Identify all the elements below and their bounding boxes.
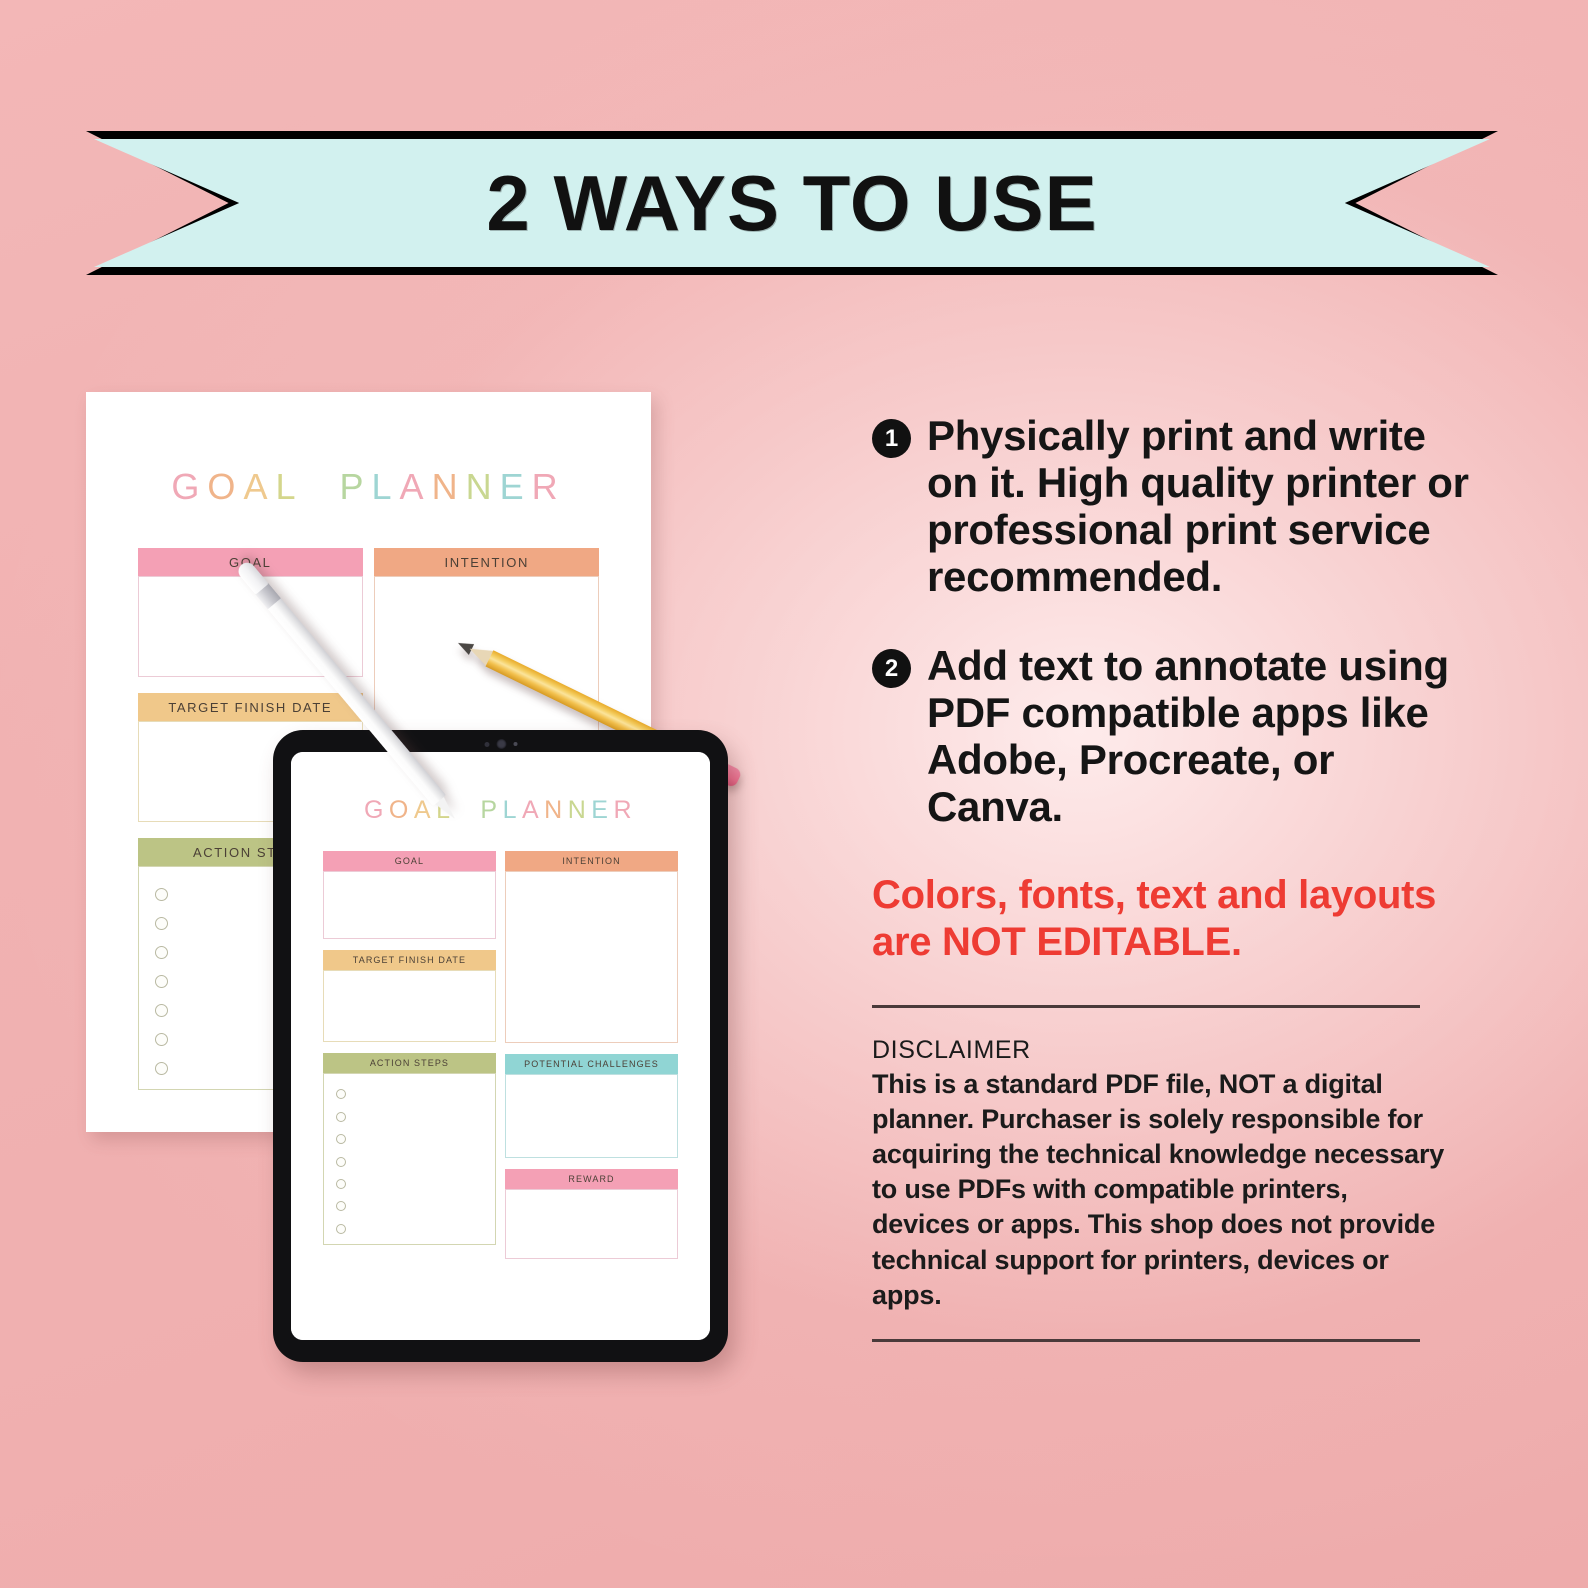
field-header-goal: GOAL	[323, 851, 496, 871]
tablet-camera-cluster	[484, 739, 517, 749]
instruction-item-1: 1 Physically print and write on it. High…	[872, 412, 1472, 600]
field-body-intention	[505, 871, 678, 1043]
planner-title-letter: O	[207, 466, 243, 507]
planner-title-letter: L	[503, 796, 522, 824]
instruction-text-2: Add text to annotate using PDF compatibl…	[927, 642, 1472, 830]
planner-title-letter: G	[171, 466, 207, 507]
action-step-checkbox[interactable]	[336, 1201, 346, 1211]
planner-title-letter: A	[400, 466, 432, 507]
planner-field-grid-tablet: GOAL TARGET FINISH DATE ACTION STEPS	[323, 851, 678, 1259]
field-header-target-finish-date: TARGET FINISH DATE	[323, 950, 496, 970]
field-body-potential-challenges	[505, 1074, 678, 1158]
action-step-checkbox[interactable]	[336, 1089, 346, 1099]
action-step-checkbox[interactable]	[155, 1062, 168, 1075]
field-body-goal	[323, 871, 496, 939]
page-title: 2 WAYS TO USE	[86, 131, 1498, 275]
planner-title-letter: R	[613, 796, 637, 824]
planner-title-letter: E	[591, 796, 613, 824]
planner-title-letter: A	[522, 796, 544, 824]
planner-title-letter: G	[364, 796, 389, 824]
field-header-intention: INTENTION	[374, 548, 599, 576]
planner-title-letter: N	[568, 796, 592, 824]
action-step-checkbox[interactable]	[336, 1134, 346, 1144]
planner-title-letter: N	[432, 466, 466, 507]
instructions-column: 1 Physically print and write on it. High…	[872, 412, 1472, 1342]
action-step-checkbox[interactable]	[155, 1004, 168, 1017]
tablet-planner-layout: GOAL PLANNER GOAL TARGET FINISH DATE ACT…	[291, 752, 710, 1340]
planner-title-letter: A	[243, 466, 275, 507]
action-step-checkbox[interactable]	[336, 1224, 346, 1234]
product-listing-graphic: 2 WAYS TO USE GOAL PLANNER GOAL TARGET F…	[0, 0, 1588, 1588]
planner-column-left-tablet: GOAL TARGET FINISH DATE ACTION STEPS	[323, 851, 496, 1259]
tablet-device: GOAL PLANNER GOAL TARGET FINISH DATE ACT…	[273, 730, 728, 1362]
disclaimer-title: DISCLAIMER	[872, 1036, 1472, 1065]
sensor-dot-icon	[484, 742, 489, 747]
action-step-checkbox[interactable]	[336, 1179, 346, 1189]
planner-title-letter: L	[372, 466, 400, 507]
planner-title-letter: P	[340, 466, 372, 507]
field-body-target-finish-date	[323, 970, 496, 1042]
tablet-screen[interactable]: GOAL PLANNER GOAL TARGET FINISH DATE ACT…	[291, 752, 710, 1340]
planner-title-letter: O	[389, 796, 414, 824]
planner-title-tablet: GOAL PLANNER	[291, 796, 710, 825]
planner-title-letter: P	[480, 796, 502, 824]
divider-top	[872, 1005, 1420, 1008]
planner-title-letter: L	[275, 466, 303, 507]
instruction-text-1: Physically print and write on it. High q…	[927, 412, 1472, 600]
disclaimer-body: This is a standard PDF file, NOT a digit…	[872, 1067, 1450, 1313]
field-header-reward: REWARD	[505, 1169, 678, 1189]
planner-column-right-tablet: INTENTION POTENTIAL CHALLENGES REWARD	[505, 851, 678, 1259]
banner-ribbon: 2 WAYS TO USE	[86, 131, 1498, 275]
action-step-checkbox[interactable]	[336, 1157, 346, 1167]
divider-bottom	[872, 1339, 1420, 1342]
action-step-checkbox[interactable]	[336, 1112, 346, 1122]
spacer	[323, 939, 496, 950]
number-badge-1: 1	[872, 419, 911, 458]
action-step-checkbox[interactable]	[155, 975, 168, 988]
spacer	[505, 1043, 678, 1054]
field-header-intention: INTENTION	[505, 851, 678, 871]
action-step-checkbox[interactable]	[155, 888, 168, 901]
field-header-potential-challenges: POTENTIAL CHALLENGES	[505, 1054, 678, 1074]
field-body-reward	[505, 1189, 678, 1259]
planner-title-letter: E	[500, 466, 532, 507]
field-body-action-steps	[323, 1073, 496, 1245]
planner-title-letter	[303, 466, 339, 507]
camera-lens-icon	[496, 739, 506, 749]
indicator-dot-icon	[513, 742, 517, 746]
planner-title-paper: GOAL PLANNER	[86, 466, 651, 508]
field-header-action-steps: ACTION STEPS	[323, 1053, 496, 1073]
action-step-bullet-list	[336, 1089, 346, 1234]
number-badge-2: 2	[872, 649, 911, 688]
field-header-target-finish-date: TARGET FINISH DATE	[138, 693, 363, 721]
product-mockup-group: GOAL PLANNER GOAL TARGET FINISH DATE ACT…	[0, 330, 800, 1460]
not-editable-warning: Colors, fonts, text and layouts are NOT …	[872, 872, 1472, 965]
action-step-checkbox[interactable]	[155, 917, 168, 930]
planner-title-letter: N	[544, 796, 568, 824]
action-step-checkbox[interactable]	[155, 1033, 168, 1046]
action-step-bullet-list	[155, 887, 168, 1076]
spacer	[505, 1158, 678, 1169]
planner-title-letter: R	[532, 466, 566, 507]
instruction-item-2: 2 Add text to annotate using PDF compati…	[872, 642, 1472, 830]
planner-title-letter: N	[466, 466, 500, 507]
spacer	[323, 1042, 496, 1053]
disclaimer-block: DISCLAIMER This is a standard PDF file, …	[872, 1036, 1472, 1313]
action-step-checkbox[interactable]	[155, 946, 168, 959]
